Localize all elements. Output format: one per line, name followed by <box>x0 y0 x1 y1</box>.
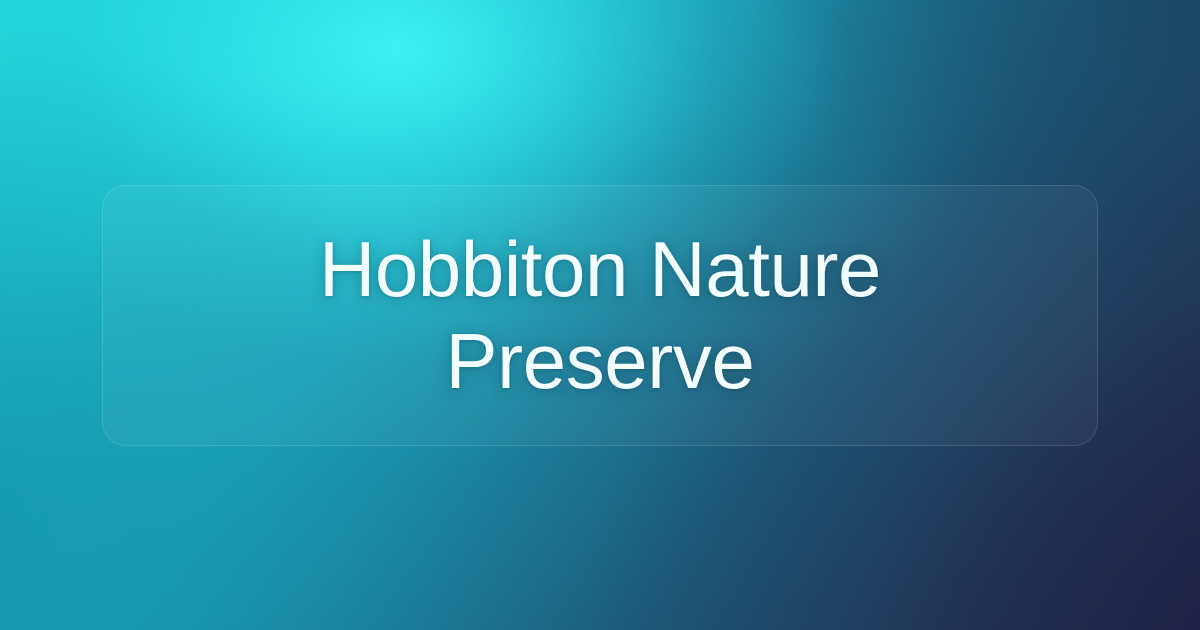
title-card: Hobbiton Nature Preserve <box>102 185 1098 446</box>
card-layer: Hobbiton Nature Preserve <box>0 0 1200 630</box>
background-canvas: Hobbiton Nature Preserve <box>0 0 1200 630</box>
page-title: Hobbiton Nature Preserve <box>270 223 930 407</box>
